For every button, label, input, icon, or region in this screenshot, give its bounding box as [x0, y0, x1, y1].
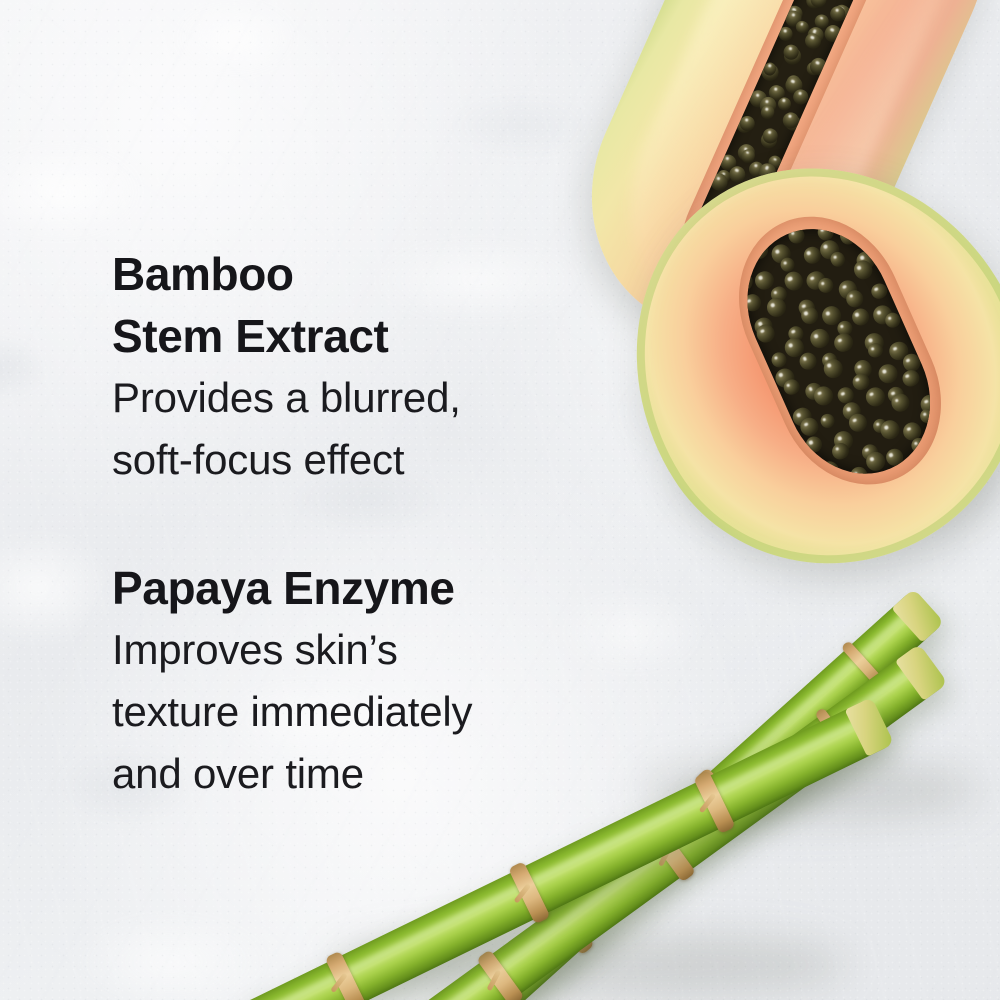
ingredient-card: Bamboo Stem Extract Provides a blurred, … — [0, 0, 1000, 1000]
ingredient-description: Improves skin’s texture immediately and … — [112, 619, 542, 805]
ingredient-copy-block: Bamboo Stem Extract Provides a blurred, … — [112, 243, 542, 805]
ingredient-title: Papaya Enzyme — [112, 557, 542, 619]
ingredient-papaya: Papaya Enzyme Improves skin’s texture im… — [112, 557, 542, 805]
ingredient-bamboo: Bamboo Stem Extract Provides a blurred, … — [112, 243, 542, 491]
ingredient-description: Provides a blurred, soft-focus effect — [112, 367, 542, 491]
ingredient-title: Bamboo Stem Extract — [112, 243, 542, 367]
